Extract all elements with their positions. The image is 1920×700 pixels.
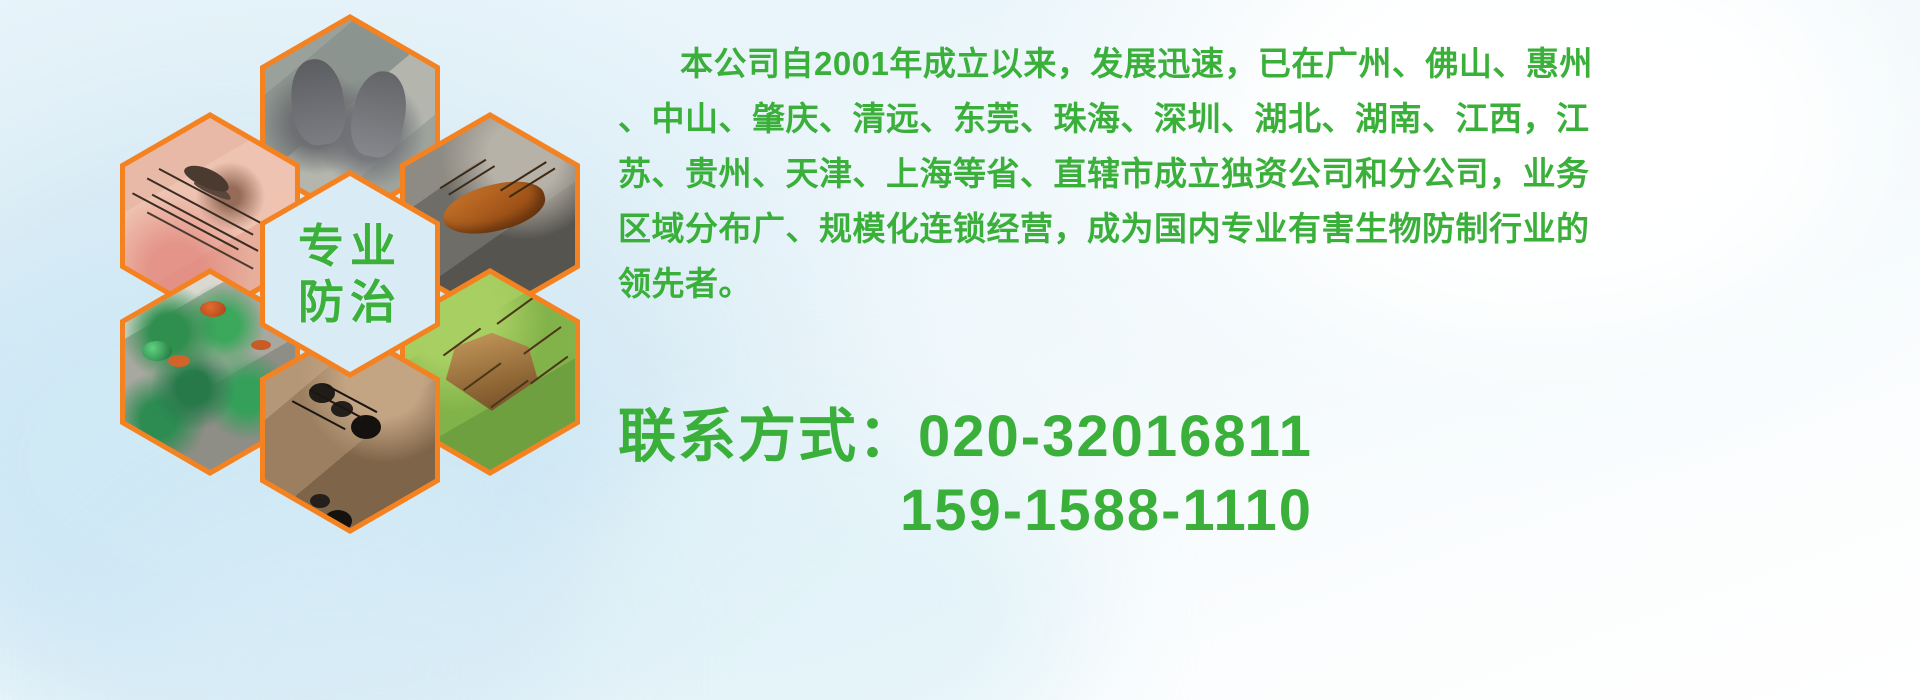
intro-line-2: 、中山、肇庆、清远、东莞、珠海、深圳、湖北、湖南、江西，江 xyxy=(618,91,1908,146)
slogan-line-1: 专业 xyxy=(298,223,402,269)
slogan-label: 专业 防治 xyxy=(265,176,435,372)
company-intro-paragraph: 本公司自2001年成立以来，发展迅速，已在广州、佛山、惠州 、中山、肇庆、清远、… xyxy=(618,36,1908,311)
intro-line-1: 本公司自2001年成立以来，发展迅速，已在广州、佛山、惠州 xyxy=(618,36,1908,91)
contact-phone-secondary[interactable]: 159-1588-1110 xyxy=(618,474,1908,548)
banner-content: 本公司自2001年成立以来，发展迅速，已在广州、佛山、惠州 、中山、肇庆、清远、… xyxy=(610,0,1910,700)
intro-line-5: 领先者。 xyxy=(618,256,1908,311)
contact-phone-primary[interactable]: 联系方式：020-32016811 xyxy=(618,400,1908,474)
promo-banner: 专业 防治 本公司自2001年成立以来，发展迅速，已在广州、佛山、惠州 、中山、… xyxy=(0,0,1920,700)
contact-block: 联系方式：020-32016811 159-1588-1110 xyxy=(618,400,1908,548)
intro-line-4: 区域分布广、规模化连锁经营，成为国内专业有害生物防制行业的 xyxy=(618,201,1908,256)
intro-line-3: 苏、贵州、天津、上海等省、直辖市成立独资公司和分公司，业务 xyxy=(618,146,1908,201)
hexagon-photo-cluster: 专业 防治 xyxy=(88,8,588,568)
slogan-line-2: 防治 xyxy=(298,279,402,325)
